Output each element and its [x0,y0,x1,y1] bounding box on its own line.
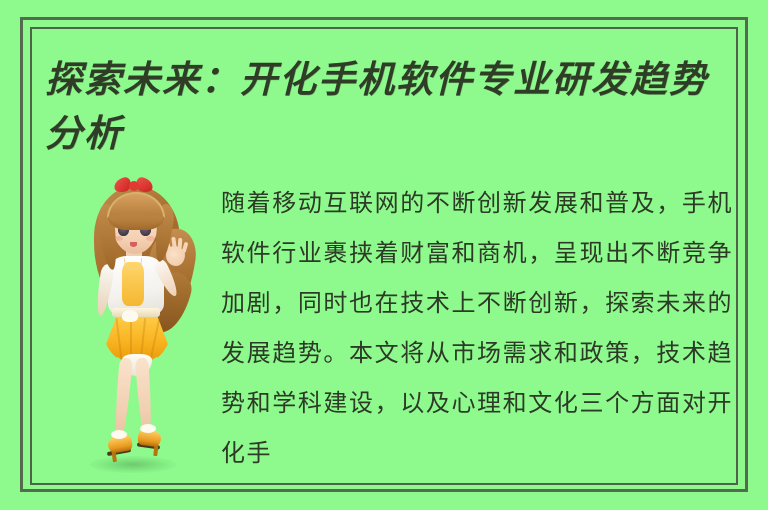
ankle-strap-left [111,430,127,439]
waving-hand [166,246,185,266]
ankle-strap-right [140,424,156,433]
article-body-text: 随着移动互联网的不断创新发展和普及，手机软件行业裹挟着财富和商机，呈现出不断竞争… [221,178,733,478]
page-title: 探索未来：开化手机软件专业研发趋势分析 [45,52,735,160]
anime-girl-illustration [68,168,218,486]
blush-right [146,236,155,241]
waist-bow [122,310,138,322]
poster-canvas: 探索未来：开化手机软件专业研发趋势分析 [0,0,768,510]
figure-ground-shadow [90,456,176,473]
red-bow-knot [129,181,139,191]
mouth [130,242,137,247]
